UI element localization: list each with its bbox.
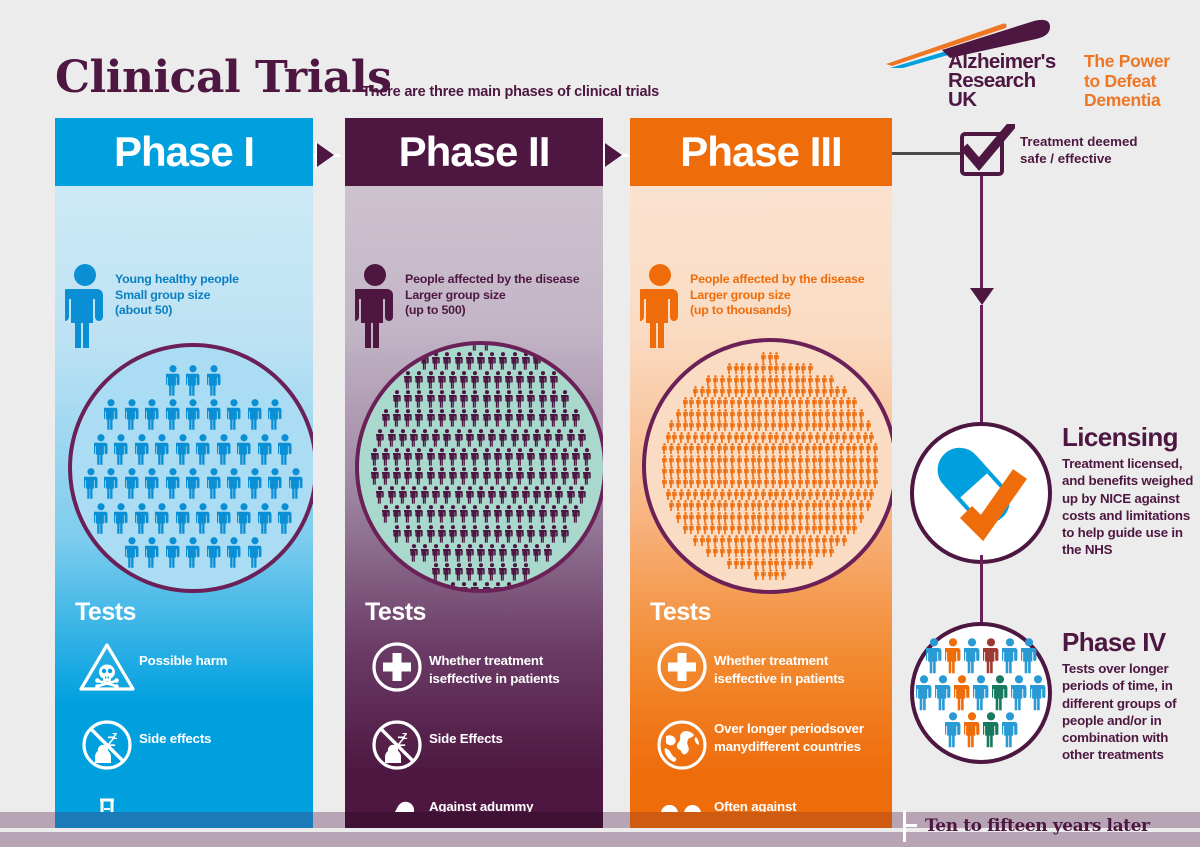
pictogram-row	[376, 429, 585, 447]
test-label: Whether treatment iseffective in patient…	[714, 638, 880, 687]
pictogram-row	[761, 352, 780, 363]
phase-2-intro: People affected by the diseaseLarger gro…	[355, 264, 579, 353]
test-item[interactable]: z Z Side effects	[75, 716, 305, 784]
phase-2-band-extension	[345, 812, 603, 828]
pictogram-row	[471, 341, 490, 351]
test-item[interactable]: Whether treatment iseffective in patient…	[365, 638, 595, 706]
globe-icon	[650, 716, 714, 774]
pictogram-row	[676, 512, 865, 523]
pictogram-row	[945, 712, 1018, 748]
pictogram-row	[926, 638, 1037, 674]
pictogram-row	[683, 397, 858, 408]
phase-2-participants-circle	[355, 341, 603, 593]
phase-2-column[interactable]: Phase II People affected by the diseaseL…	[345, 118, 603, 847]
test-label: Over longer periodsover manydifferent co…	[714, 716, 880, 755]
phase-1-header: Phase I	[55, 118, 313, 186]
pictogram-row	[393, 390, 569, 408]
pictogram-row	[706, 546, 833, 557]
logo-name: Alzheimer'sResearchUK	[948, 52, 1056, 109]
flow-line-1	[980, 176, 983, 292]
pictogram-row	[449, 582, 513, 593]
page-title: Clinical Trials	[55, 52, 391, 103]
phase-3-column[interactable]: Phase III People affected by the disease…	[630, 118, 892, 847]
phase-3-title: Phase III	[680, 131, 841, 173]
pictogram-row	[84, 468, 303, 500]
pictogram-row	[662, 477, 878, 488]
pictogram-row	[125, 537, 262, 569]
pictogram-row	[727, 363, 814, 374]
phase-1-title: Phase I	[114, 131, 254, 173]
phase-3-body: People affected by the diseaseLarger gro…	[630, 186, 892, 847]
checkbox-label: Treatment deemedsafe / effective	[1020, 134, 1138, 167]
pictogram-row	[166, 365, 221, 397]
pictogram-row	[371, 448, 592, 466]
test-label: Whether treatment iseffective in patient…	[429, 638, 595, 687]
phase4-title: Phase IV	[1062, 627, 1166, 658]
person-icon	[65, 264, 105, 353]
pictogram-row	[706, 375, 833, 386]
phase-3-participants-circle	[642, 338, 892, 594]
phase-1-intro: Young healthy peopleSmall group size(abo…	[65, 264, 239, 353]
pictogram-row	[382, 409, 580, 427]
pictogram-row	[94, 434, 293, 466]
alzheimers-research-uk-logo: Alzheimer'sResearchUK The Powerto Defeat…	[890, 12, 1200, 112]
licensing-icon-circle	[910, 422, 1052, 564]
phase-1-intro-text: Young healthy peopleSmall group size(abo…	[115, 264, 239, 353]
side-effects-icon: z Z	[365, 716, 429, 774]
phase-3-band-extension	[630, 812, 892, 828]
phase-1-participants-circle	[68, 343, 313, 593]
phase-2-intro-text: People affected by the diseaseLarger gro…	[405, 264, 579, 353]
phase-1-tests-heading: Tests	[75, 598, 136, 627]
licensing-body: Treatment licensed, and benefits weighed…	[1062, 455, 1200, 559]
infographic-canvas: Clinical Trials There are three main pha…	[0, 0, 1200, 847]
pill-and-tick-icon	[914, 426, 1048, 560]
pictogram-row	[662, 455, 878, 466]
pictogram-row	[371, 467, 592, 485]
phase4-body: Tests over longer periods of time, in di…	[1062, 660, 1200, 764]
flow-line-2	[980, 305, 983, 425]
pictogram-row	[693, 535, 848, 546]
phase4-icon-circle	[910, 622, 1052, 764]
pictogram-row	[666, 489, 875, 500]
test-label: Possible harm	[139, 638, 227, 670]
pictogram-row	[669, 500, 871, 511]
pictogram-row	[676, 409, 865, 420]
pictogram-row	[104, 399, 282, 431]
test-label: Side Effects	[429, 716, 503, 748]
pictogram-row	[693, 386, 848, 397]
flow-arrow-down-icon	[970, 288, 994, 305]
pictogram-row	[376, 486, 585, 504]
checkmark-icon	[957, 124, 1015, 176]
pictogram-row	[94, 503, 293, 535]
pictogram-row	[410, 544, 552, 562]
person-icon	[355, 264, 395, 353]
mixed-people-group-icon	[914, 626, 1048, 760]
logo-tagline: The Powerto DefeatDementia	[1084, 52, 1170, 111]
pictogram-row	[666, 432, 875, 443]
test-label: Side effects	[139, 716, 211, 748]
licensing-title: Licensing	[1062, 422, 1178, 453]
test-item[interactable]: z Z Side Effects	[365, 716, 595, 784]
test-item[interactable]: Over longer periodsover manydifferent co…	[650, 716, 880, 784]
pictogram-row	[916, 675, 1046, 711]
pictogram-row	[662, 443, 878, 454]
flow-line-3	[980, 555, 983, 625]
pictogram-row	[421, 352, 541, 370]
phase-connector-arrow-1	[310, 143, 340, 167]
phase-1-band-extension	[55, 812, 313, 828]
page-subtitle: There are three main phases of clinical …	[362, 84, 659, 100]
phase-1-body: Young healthy peopleSmall group size(abo…	[55, 186, 313, 847]
side-effects-icon: z Z	[75, 716, 139, 774]
test-item[interactable]: Whether treatment iseffective in patient…	[650, 638, 880, 706]
pictogram-row	[727, 558, 814, 569]
pictogram-row	[432, 563, 530, 581]
test-item[interactable]: Possible harm	[75, 638, 305, 706]
phase-3-tests-heading: Tests	[650, 598, 711, 627]
plus-circle-icon	[365, 638, 429, 696]
hazard-skull-icon	[75, 638, 139, 696]
phase-2-tests-heading: Tests	[365, 598, 426, 627]
pictogram-row	[393, 525, 569, 543]
phase-2-title: Phase II	[399, 131, 550, 173]
pictogram-row	[669, 420, 871, 431]
pictogram-row	[754, 569, 786, 580]
phase-3-header: Phase III	[630, 118, 892, 186]
phase-1-column[interactable]: Phase I Young healthy peopleSmall group …	[55, 118, 313, 847]
phase-2-body: People affected by the diseaseLarger gro…	[345, 186, 603, 847]
plus-circle-icon	[650, 638, 714, 696]
timeline-tick-arm	[903, 824, 917, 827]
pictogram-row	[404, 371, 557, 389]
person-icon	[640, 264, 680, 353]
pictogram-row	[662, 466, 878, 477]
timeline-label: Ten to fifteen years later	[925, 816, 1150, 836]
pictogram-row	[683, 523, 858, 534]
pictogram-row	[382, 505, 580, 523]
phase-2-header: Phase II	[345, 118, 603, 186]
